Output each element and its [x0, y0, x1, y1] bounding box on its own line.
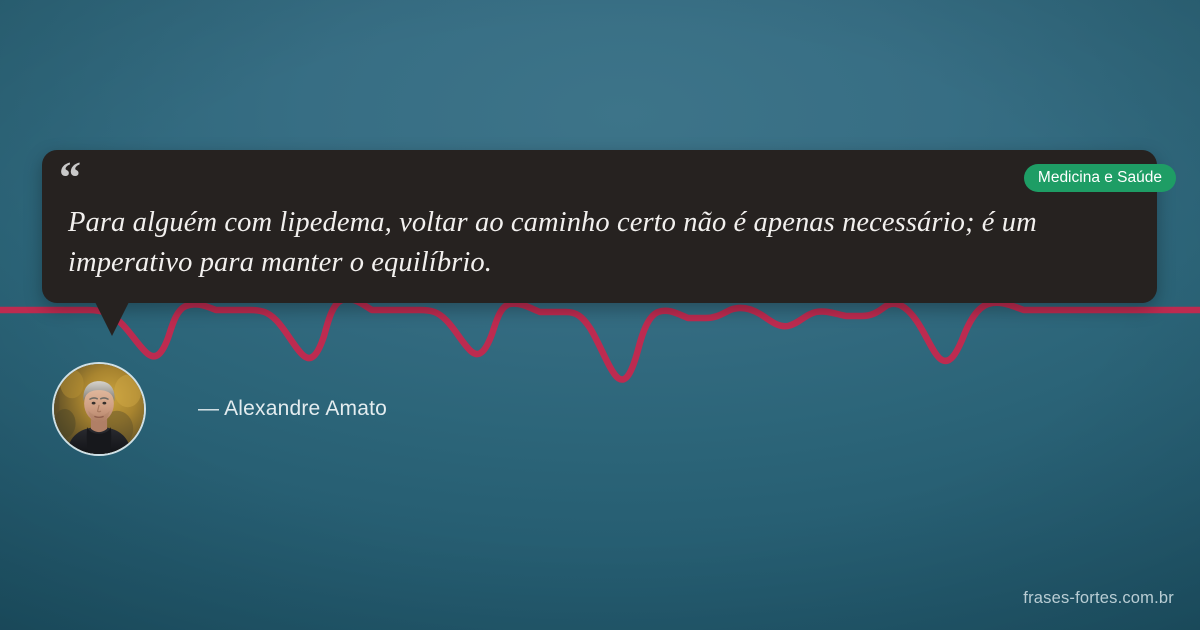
- avatar-portrait-icon: [54, 364, 144, 454]
- quote-text: Para alguém com lipedema, voltar ao cami…: [68, 203, 1128, 284]
- quote-mark-icon: “: [59, 156, 80, 200]
- author-name: — Alexandre Amato: [198, 397, 387, 421]
- site-url: frases-fortes.com.br: [1023, 589, 1174, 608]
- avatar: [52, 362, 146, 456]
- quote-card-tail: [95, 302, 129, 336]
- status-badge[interactable]: Medicina e Saúde: [1024, 164, 1176, 192]
- author-row: — Alexandre Amato: [52, 362, 387, 456]
